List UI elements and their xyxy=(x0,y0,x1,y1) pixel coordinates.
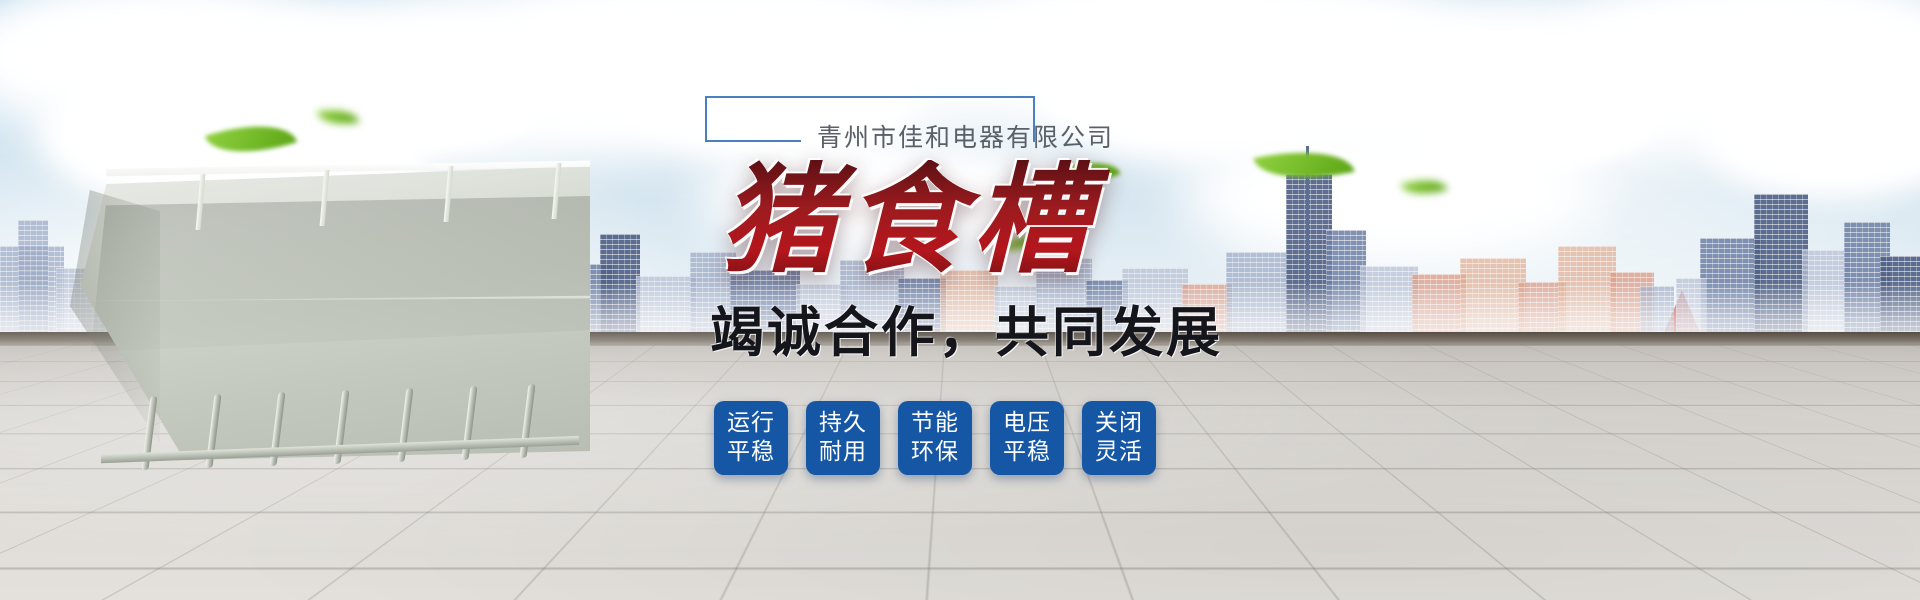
promo-banner: 青州市佳和电器有限公司 猪食槽 竭诚合作，共同发展 运行 平稳 持久 耐用 节能… xyxy=(0,0,1920,600)
feature-badge[interactable]: 电压 平稳 xyxy=(990,401,1064,475)
badge-line-1: 关闭 xyxy=(1095,409,1143,438)
badge-line-1: 持久 xyxy=(819,409,867,438)
badge-line-2: 耐用 xyxy=(819,438,867,467)
brand-frame: 青州市佳和电器有限公司 xyxy=(705,96,1035,158)
feature-badge[interactable]: 节能 环保 xyxy=(898,401,972,475)
product-image-pig-feeding-trough xyxy=(70,160,590,460)
company-name: 青州市佳和电器有限公司 xyxy=(817,118,1114,154)
badge-line-1: 节能 xyxy=(911,409,959,438)
brand-frame-underline xyxy=(705,140,801,142)
badge-line-2: 环保 xyxy=(911,438,959,467)
feature-badge[interactable]: 关闭 灵活 xyxy=(1082,401,1156,475)
badge-line-1: 运行 xyxy=(727,409,775,438)
feature-badge-list: 运行 平稳 持久 耐用 节能 环保 电压 平稳 关闭 灵活 xyxy=(700,401,1400,475)
badge-line-2: 平稳 xyxy=(1003,438,1051,467)
subtitle: 竭诚合作，共同发展 xyxy=(700,288,1400,367)
badge-line-2: 灵活 xyxy=(1095,438,1143,467)
badge-line-1: 电压 xyxy=(1003,409,1051,438)
copy-block: 青州市佳和电器有限公司 猪食槽 竭诚合作，共同发展 运行 平稳 持久 耐用 节能… xyxy=(700,96,1400,475)
badge-line-2: 平稳 xyxy=(727,438,775,467)
feature-badge[interactable]: 运行 平稳 xyxy=(714,401,788,475)
page-title: 猪食槽 xyxy=(700,160,1400,280)
feature-badge[interactable]: 持久 耐用 xyxy=(806,401,880,475)
